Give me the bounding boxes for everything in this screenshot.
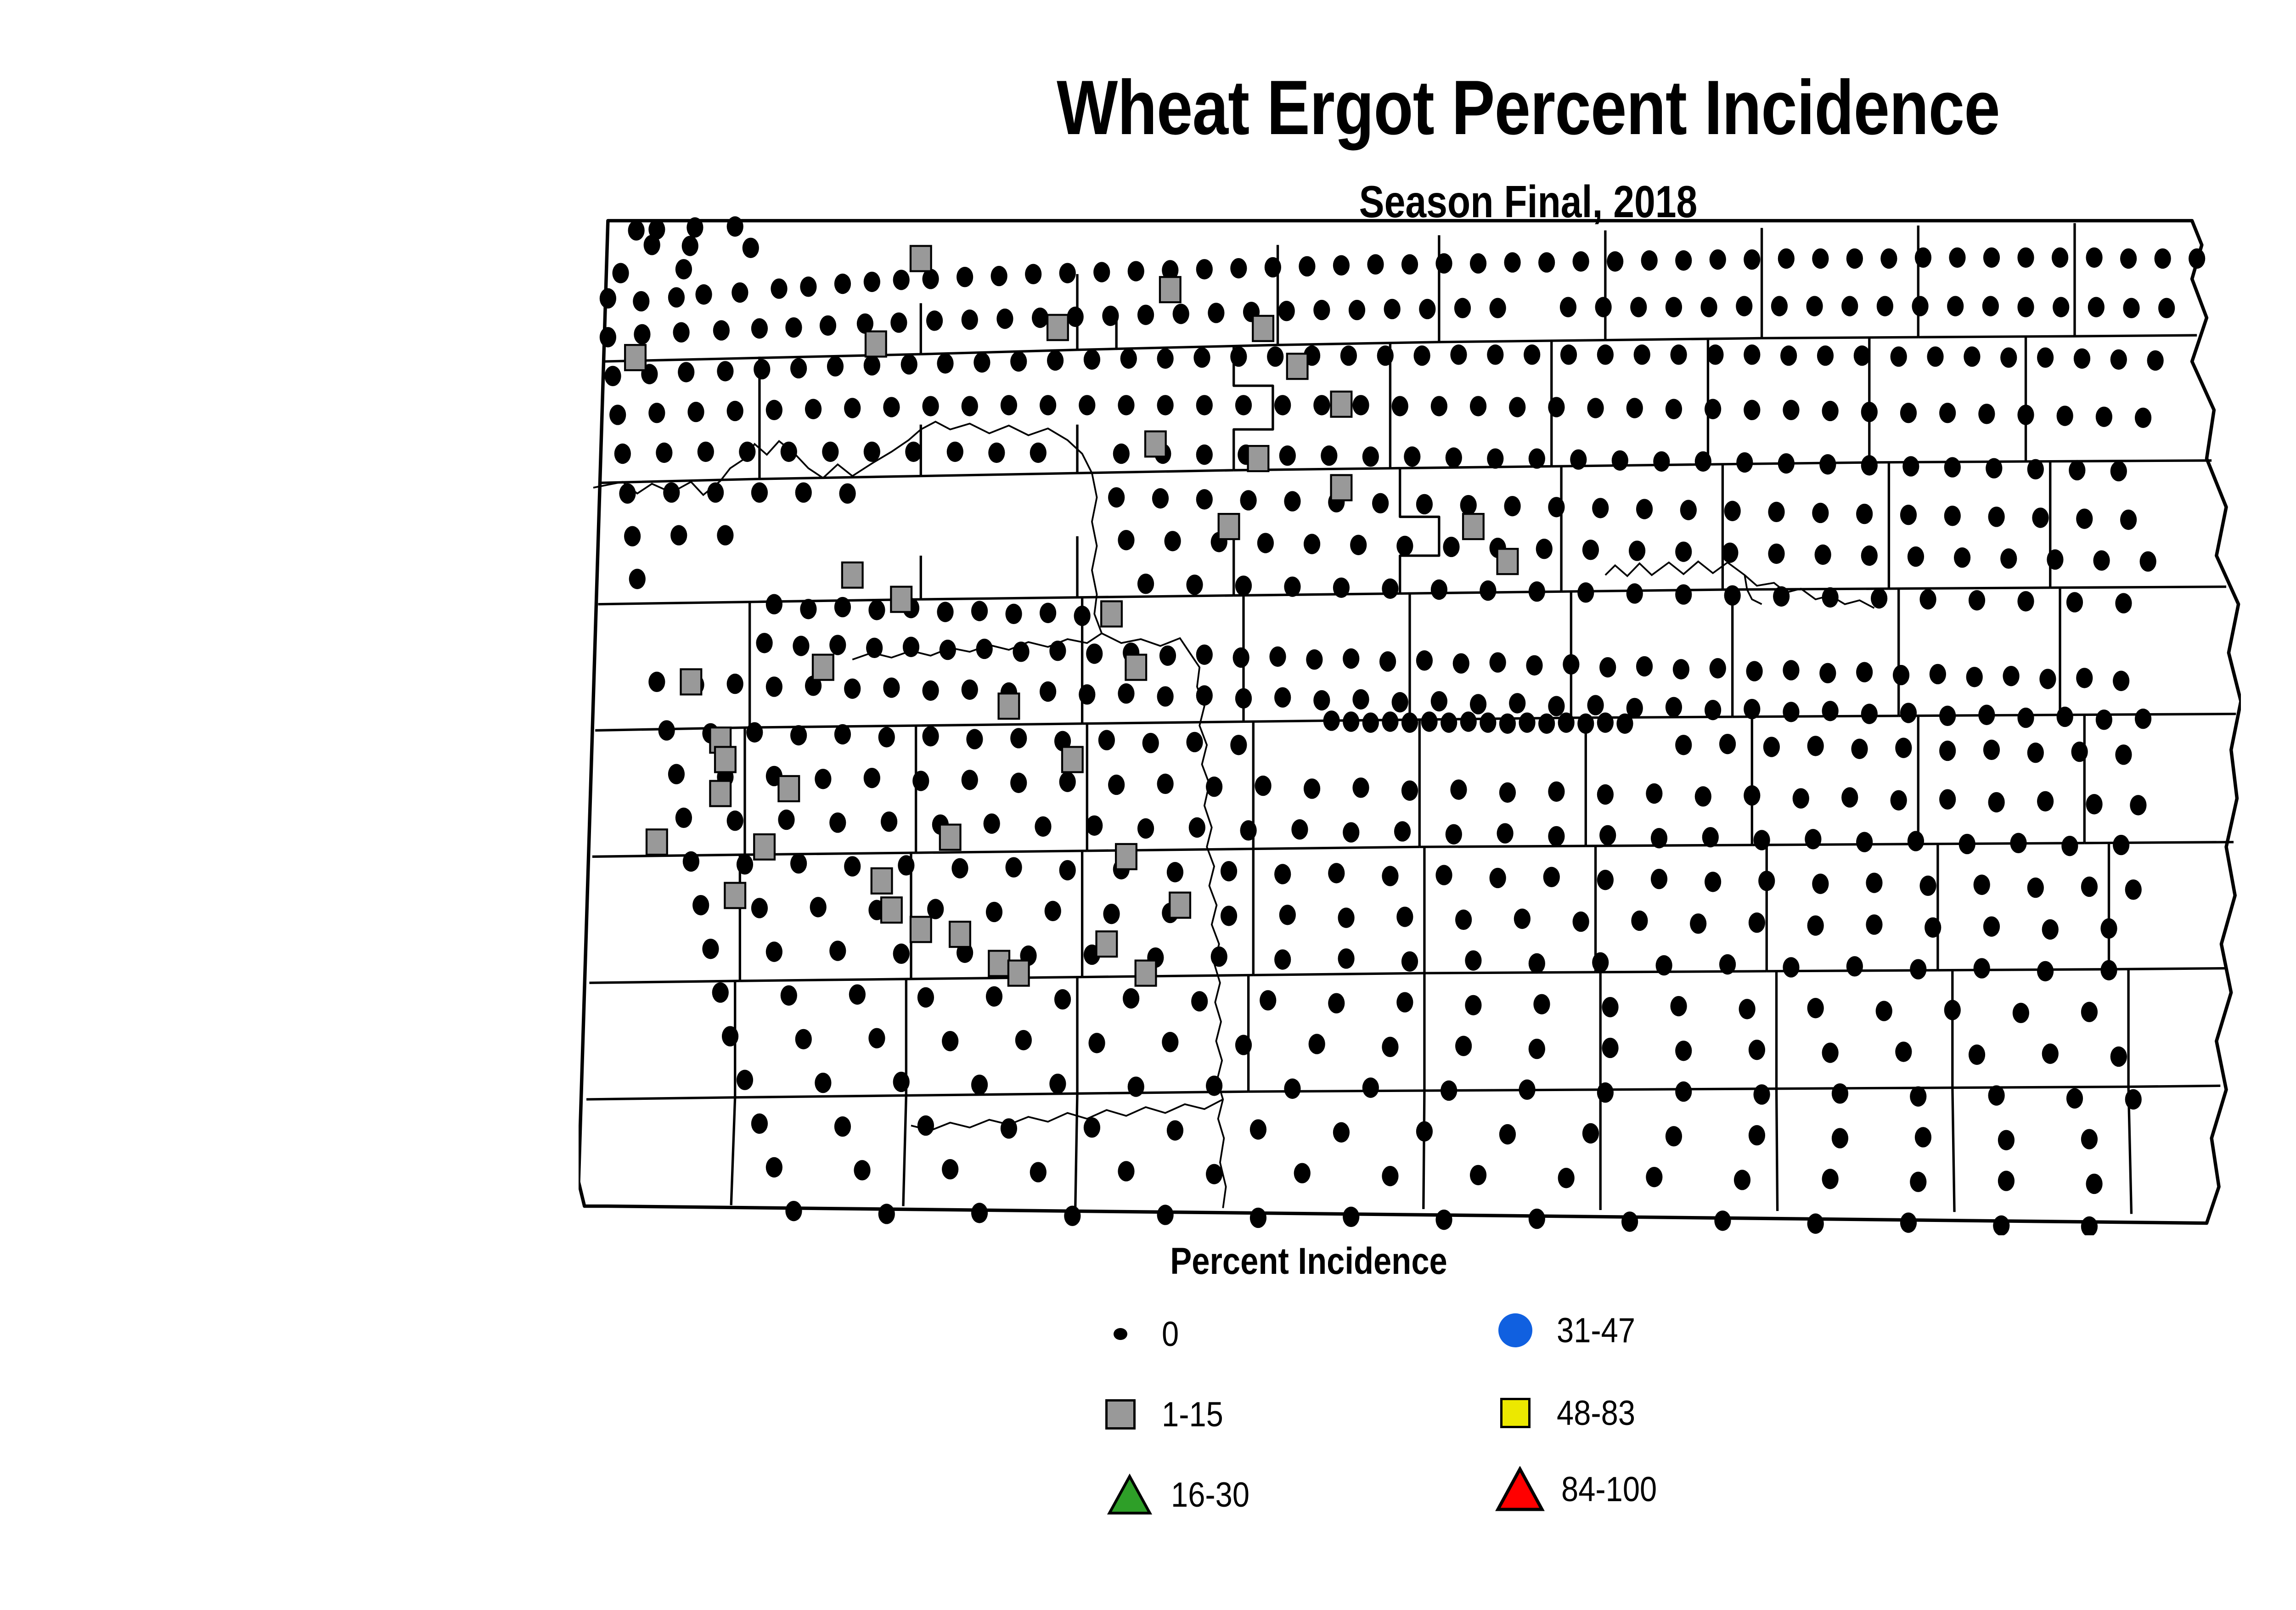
data-point-zero[interactable] xyxy=(1529,581,1545,602)
data-point-zero[interactable] xyxy=(1267,346,1283,366)
data-point-zero[interactable] xyxy=(2093,550,2110,570)
data-point-zero[interactable] xyxy=(739,442,755,462)
data-point-zero[interactable] xyxy=(1871,588,1887,608)
data-point-zero[interactable] xyxy=(1607,251,1623,271)
data-point-zero[interactable] xyxy=(1597,870,1614,890)
data-point-zero[interactable] xyxy=(1235,688,1252,709)
data-point-zero[interactable] xyxy=(751,898,768,918)
data-point-zero[interactable] xyxy=(1866,914,1882,934)
data-point-zero[interactable] xyxy=(1321,445,1337,466)
data-point-zero[interactable] xyxy=(1086,643,1103,664)
data-point-zero[interactable] xyxy=(2113,835,2129,855)
data-point-zero[interactable] xyxy=(1670,344,1687,365)
data-point-1-15[interactable] xyxy=(1136,961,1156,986)
data-point-zero[interactable] xyxy=(1651,869,1667,889)
data-point-zero[interactable] xyxy=(1910,1086,1926,1106)
data-point-zero[interactable] xyxy=(2071,742,2088,762)
data-point-zero[interactable] xyxy=(1749,912,1765,933)
data-point-zero[interactable] xyxy=(1379,651,1396,671)
data-point-zero[interactable] xyxy=(624,526,641,546)
data-point-zero[interactable] xyxy=(673,322,689,343)
data-point-zero[interactable] xyxy=(785,1201,802,1221)
data-point-zero[interactable] xyxy=(1719,734,1736,754)
data-point-zero[interactable] xyxy=(1915,1127,1931,1147)
data-point-zero[interactable] xyxy=(2096,406,2112,427)
data-point-1-15[interactable] xyxy=(1125,655,1146,680)
data-point-zero[interactable] xyxy=(1362,712,1379,732)
data-point-zero[interactable] xyxy=(1030,443,1047,463)
data-point-zero[interactable] xyxy=(1753,830,1770,850)
data-point-zero[interactable] xyxy=(1250,1208,1266,1228)
legend-item-2[interactable]: 16-30 xyxy=(1102,1469,1260,1520)
data-point-zero[interactable] xyxy=(1666,297,1682,317)
data-point-zero[interactable] xyxy=(1944,1000,1961,1020)
data-point-zero[interactable] xyxy=(1333,578,1350,598)
data-point-zero[interactable] xyxy=(1974,875,1990,895)
data-point-zero[interactable] xyxy=(1460,495,1477,515)
data-point-zero[interactable] xyxy=(1927,346,1943,366)
data-point-zero[interactable] xyxy=(1460,711,1477,732)
data-point-zero[interactable] xyxy=(1221,906,1237,926)
data-point-zero[interactable] xyxy=(1710,658,1726,678)
data-point-zero[interactable] xyxy=(1504,252,1520,272)
data-point-zero[interactable] xyxy=(1384,299,1401,319)
data-point-zero[interactable] xyxy=(1744,344,1760,365)
data-point-zero[interactable] xyxy=(1592,498,1609,518)
data-point-zero[interactable] xyxy=(754,359,770,379)
data-point-zero[interactable] xyxy=(1233,647,1249,668)
data-point-zero[interactable] xyxy=(1734,1170,1750,1190)
data-point-zero[interactable] xyxy=(2115,744,2132,765)
data-point-zero[interactable] xyxy=(962,396,978,416)
data-point-zero[interactable] xyxy=(1895,1041,1912,1062)
data-point-zero[interactable] xyxy=(2057,405,2073,426)
data-point-zero[interactable] xyxy=(1675,541,1692,562)
data-point-zero[interactable] xyxy=(1744,400,1760,420)
data-point-zero[interactable] xyxy=(1352,777,1369,798)
data-point-zero[interactable] xyxy=(1450,779,1467,799)
data-point-zero[interactable] xyxy=(790,358,807,378)
data-point-zero[interactable] xyxy=(1230,735,1247,755)
data-point-1-15[interactable] xyxy=(1145,431,1166,456)
data-point-zero[interactable] xyxy=(675,259,692,279)
data-point-zero[interactable] xyxy=(962,310,978,330)
data-point-zero[interactable] xyxy=(1396,992,1413,1012)
data-point-zero[interactable] xyxy=(1103,904,1120,924)
data-point-zero[interactable] xyxy=(1294,1163,1311,1183)
data-point-1-15[interactable] xyxy=(778,776,799,801)
data-point-1-15[interactable] xyxy=(1331,475,1352,501)
data-point-zero[interactable] xyxy=(1230,258,1247,278)
data-point-zero[interactable] xyxy=(1930,664,1946,684)
data-point-zero[interactable] xyxy=(1196,489,1213,509)
data-point-zero[interactable] xyxy=(1753,1084,1770,1104)
data-point-zero[interactable] xyxy=(2140,551,2156,571)
data-point-zero[interactable] xyxy=(1497,823,1514,843)
data-point-zero[interactable] xyxy=(1983,916,2000,936)
data-point-zero[interactable] xyxy=(1142,733,1159,753)
data-point-1-15[interactable] xyxy=(1008,961,1029,986)
data-point-zero[interactable] xyxy=(1343,822,1359,842)
data-point-zero[interactable] xyxy=(682,236,698,256)
data-point-zero[interactable] xyxy=(893,1072,910,1092)
data-point-zero[interactable] xyxy=(971,601,988,621)
data-point-zero[interactable] xyxy=(1401,254,1418,275)
data-point-zero[interactable] xyxy=(2037,791,2054,811)
data-point-zero[interactable] xyxy=(1186,732,1203,752)
data-point-zero[interactable] xyxy=(1822,1042,1839,1063)
data-point-zero[interactable] xyxy=(781,442,797,462)
data-point-1-15[interactable] xyxy=(1047,315,1068,340)
data-point-1-15[interactable] xyxy=(754,834,775,860)
data-point-zero[interactable] xyxy=(727,401,743,421)
data-point-zero[interactable] xyxy=(1064,1206,1080,1226)
data-point-zero[interactable] xyxy=(1118,395,1134,415)
data-point-zero[interactable] xyxy=(2076,508,2093,529)
data-point-zero[interactable] xyxy=(1646,783,1662,804)
data-point-zero[interactable] xyxy=(1529,953,1545,974)
data-point-zero[interactable] xyxy=(2027,459,2044,479)
legend-item-0[interactable]: 0 xyxy=(1093,1309,1181,1359)
data-point-zero[interactable] xyxy=(1526,655,1542,676)
data-point-1-15[interactable] xyxy=(813,655,833,680)
data-point-zero[interactable] xyxy=(922,681,939,701)
data-point-zero[interactable] xyxy=(795,1029,812,1049)
data-point-zero[interactable] xyxy=(917,987,934,1008)
data-point-zero[interactable] xyxy=(1819,454,1836,474)
data-point-zero[interactable] xyxy=(1908,546,1924,567)
data-point-1-15[interactable] xyxy=(1331,392,1352,417)
data-point-zero[interactable] xyxy=(2027,743,2044,763)
data-point-zero[interactable] xyxy=(1866,873,1882,893)
data-point-zero[interactable] xyxy=(1783,702,1799,722)
data-point-zero[interactable] xyxy=(1128,1076,1144,1097)
data-point-zero[interactable] xyxy=(1978,404,1995,424)
data-point-zero[interactable] xyxy=(1284,491,1300,511)
data-point-zero[interactable] xyxy=(1822,587,1839,608)
data-point-zero[interactable] xyxy=(1235,1035,1252,1055)
data-point-zero[interactable] xyxy=(1274,687,1291,707)
data-point-zero[interactable] xyxy=(1974,958,1990,978)
data-point-zero[interactable] xyxy=(1778,453,1795,473)
data-point-zero[interactable] xyxy=(2042,1043,2059,1064)
data-point-zero[interactable] xyxy=(1597,712,1614,732)
data-point-zero[interactable] xyxy=(1306,649,1322,670)
legend-item-5[interactable]: 84-100 xyxy=(1492,1464,1670,1514)
data-point-zero[interactable] xyxy=(707,482,724,502)
data-point-zero[interactable] xyxy=(1157,1205,1174,1225)
data-point-zero[interactable] xyxy=(1250,1119,1266,1139)
data-point-zero[interactable] xyxy=(1806,296,1823,316)
data-point-zero[interactable] xyxy=(1724,585,1741,605)
data-point-zero[interactable] xyxy=(1499,782,1516,803)
data-point-zero[interactable] xyxy=(2113,671,2129,691)
data-point-zero[interactable] xyxy=(766,400,782,420)
data-point-zero[interactable] xyxy=(1167,862,1183,882)
data-point-zero[interactable] xyxy=(1919,876,1936,896)
data-point-zero[interactable] xyxy=(1206,777,1222,797)
data-point-zero[interactable] xyxy=(1377,345,1394,366)
data-point-zero[interactable] xyxy=(1597,784,1614,805)
data-point-zero[interactable] xyxy=(1441,712,1457,732)
data-point-zero[interactable] xyxy=(644,235,660,255)
data-point-zero[interactable] xyxy=(1736,296,1752,316)
data-point-zero[interactable] xyxy=(834,1116,851,1137)
data-point-zero[interactable] xyxy=(1274,949,1291,969)
data-point-zero[interactable] xyxy=(2110,349,2127,370)
data-point-zero[interactable] xyxy=(727,216,743,236)
data-point-zero[interactable] xyxy=(790,853,807,873)
north-dakota-map[interactable] xyxy=(579,216,2241,1235)
data-point-zero[interactable] xyxy=(1915,248,1931,268)
data-point-zero[interactable] xyxy=(1470,1165,1486,1185)
data-point-zero[interactable] xyxy=(1196,395,1213,415)
data-point-zero[interactable] xyxy=(619,483,636,503)
data-point-zero[interactable] xyxy=(1186,574,1203,595)
data-point-zero[interactable] xyxy=(829,812,846,833)
data-point-zero[interactable] xyxy=(2123,298,2139,318)
data-point-1-15[interactable] xyxy=(647,829,667,855)
data-point-zero[interactable] xyxy=(2017,708,2034,728)
data-point-zero[interactable] xyxy=(962,680,978,700)
data-point-zero[interactable] xyxy=(1010,773,1027,793)
data-point-zero[interactable] xyxy=(1592,952,1609,973)
data-point-zero[interactable] xyxy=(822,442,838,462)
data-point-zero[interactable] xyxy=(1964,346,1980,366)
data-point-zero[interactable] xyxy=(1695,786,1711,806)
data-point-zero[interactable] xyxy=(1856,662,1873,682)
data-point-zero[interactable] xyxy=(713,320,730,340)
data-point-zero[interactable] xyxy=(1690,913,1706,934)
data-point-zero[interactable] xyxy=(1343,711,1359,732)
data-point-zero[interactable] xyxy=(1900,505,1917,525)
data-point-zero[interactable] xyxy=(1846,956,1863,976)
data-point-zero[interactable] xyxy=(922,396,939,416)
data-point-zero[interactable] xyxy=(648,403,665,423)
data-point-zero[interactable] xyxy=(2003,666,2019,686)
data-point-zero[interactable] xyxy=(1587,398,1604,418)
data-point-zero[interactable] xyxy=(629,569,646,589)
data-point-zero[interactable] xyxy=(1323,710,1340,731)
data-point-zero[interactable] xyxy=(727,811,743,831)
data-point-zero[interactable] xyxy=(1470,396,1486,416)
data-point-zero[interactable] xyxy=(878,727,895,747)
data-point-zero[interactable] xyxy=(1597,344,1614,365)
data-point-zero[interactable] xyxy=(1005,857,1022,877)
data-point-zero[interactable] xyxy=(1563,654,1579,675)
data-point-zero[interactable] xyxy=(815,769,831,789)
data-point-zero[interactable] xyxy=(1529,1039,1545,1059)
data-point-zero[interactable] xyxy=(1582,1123,1599,1143)
data-point-zero[interactable] xyxy=(1912,296,1928,316)
data-point-zero[interactable] xyxy=(698,442,714,462)
data-point-zero[interactable] xyxy=(1045,901,1061,921)
data-point-zero[interactable] xyxy=(1832,1083,1848,1103)
data-point-zero[interactable] xyxy=(1328,863,1345,883)
data-point-zero[interactable] xyxy=(1088,1033,1105,1053)
data-point-zero[interactable] xyxy=(1807,736,1824,756)
data-point-zero[interactable] xyxy=(1538,714,1555,734)
data-point-zero[interactable] xyxy=(2155,248,2171,269)
data-point-zero[interactable] xyxy=(2081,877,2098,897)
data-point-zero[interactable] xyxy=(996,309,1013,329)
data-point-zero[interactable] xyxy=(1670,996,1687,1016)
data-point-zero[interactable] xyxy=(1636,499,1653,519)
data-point-zero[interactable] xyxy=(751,482,768,502)
data-point-1-15[interactable] xyxy=(881,897,902,923)
data-point-zero[interactable] xyxy=(692,895,709,915)
data-point-zero[interactable] xyxy=(1969,590,1985,610)
data-point-zero[interactable] xyxy=(917,1115,934,1136)
data-point-zero[interactable] xyxy=(2017,591,2034,611)
data-point-zero[interactable] xyxy=(1435,253,1452,273)
data-point-1-15[interactable] xyxy=(1160,277,1181,302)
data-point-1-15[interactable] xyxy=(1097,931,1117,957)
data-point-zero[interactable] xyxy=(737,1070,753,1090)
data-point-zero[interactable] xyxy=(1084,1117,1100,1137)
data-point-zero[interactable] xyxy=(1744,785,1760,805)
data-point-zero[interactable] xyxy=(834,597,851,617)
data-point-zero[interactable] xyxy=(2147,350,2164,371)
data-point-zero[interactable] xyxy=(1877,296,1893,316)
data-point-zero[interactable] xyxy=(912,771,929,791)
data-point-zero[interactable] xyxy=(1998,1130,2015,1150)
data-point-zero[interactable] xyxy=(1616,714,1633,734)
data-point-1-15[interactable] xyxy=(1062,747,1083,772)
data-point-1-15[interactable] xyxy=(911,246,931,271)
data-point-zero[interactable] xyxy=(1343,648,1359,669)
data-point-zero[interactable] xyxy=(1487,448,1503,468)
data-point-zero[interactable] xyxy=(1159,646,1176,666)
data-point-zero[interactable] xyxy=(1047,350,1064,371)
data-point-zero[interactable] xyxy=(778,810,794,830)
data-point-zero[interactable] xyxy=(1230,346,1247,366)
data-point-zero[interactable] xyxy=(1059,263,1076,283)
data-point-zero[interactable] xyxy=(1587,695,1604,715)
data-point-zero[interactable] xyxy=(1372,493,1389,513)
data-point-zero[interactable] xyxy=(1949,248,1965,268)
data-point-zero[interactable] xyxy=(1509,693,1525,713)
data-point-zero[interactable] xyxy=(1719,954,1736,974)
data-point-zero[interactable] xyxy=(1074,606,1091,626)
data-point-zero[interactable] xyxy=(829,940,846,961)
data-point-zero[interactable] xyxy=(1059,860,1076,880)
data-point-zero[interactable] xyxy=(1701,297,1717,317)
data-point-zero[interactable] xyxy=(1621,1211,1638,1232)
data-point-zero[interactable] xyxy=(1382,711,1398,732)
data-point-1-15[interactable] xyxy=(1248,446,1269,471)
data-point-zero[interactable] xyxy=(1705,700,1721,720)
data-point-zero[interactable] xyxy=(1284,576,1300,597)
data-point-zero[interactable] xyxy=(1822,1169,1839,1189)
data-point-1-15[interactable] xyxy=(950,922,970,947)
data-point-zero[interactable] xyxy=(957,267,973,287)
data-point-zero[interactable] xyxy=(1939,403,1956,423)
data-point-zero[interactable] xyxy=(800,276,816,297)
data-point-zero[interactable] xyxy=(2110,461,2127,481)
data-point-zero[interactable] xyxy=(844,856,861,876)
data-point-zero[interactable] xyxy=(1773,586,1790,607)
data-point-1-15[interactable] xyxy=(911,917,931,942)
data-point-zero[interactable] xyxy=(2086,248,2102,268)
data-point-zero[interactable] xyxy=(1279,905,1296,925)
data-point-zero[interactable] xyxy=(971,1203,988,1223)
data-point-zero[interactable] xyxy=(1856,832,1873,852)
data-point-zero[interactable] xyxy=(781,985,797,1006)
data-point-zero[interactable] xyxy=(1900,403,1917,423)
data-point-zero[interactable] xyxy=(1382,1037,1398,1057)
data-point-zero[interactable] xyxy=(1240,490,1257,510)
data-point-zero[interactable] xyxy=(1304,778,1320,799)
data-point-zero[interactable] xyxy=(974,352,990,372)
data-point-zero[interactable] xyxy=(2081,1216,2098,1235)
data-point-1-15[interactable] xyxy=(715,747,736,772)
data-point-zero[interactable] xyxy=(1675,735,1692,755)
data-point-zero[interactable] xyxy=(2052,248,2068,268)
data-point-zero[interactable] xyxy=(1641,250,1658,270)
data-point-zero[interactable] xyxy=(2039,669,2056,689)
data-point-1-15[interactable] xyxy=(999,693,1019,719)
data-point-zero[interactable] xyxy=(2032,507,2048,528)
data-point-zero[interactable] xyxy=(829,635,846,655)
data-point-zero[interactable] xyxy=(1032,308,1048,328)
data-point-zero[interactable] xyxy=(1093,262,1110,282)
data-point-zero[interactable] xyxy=(1783,400,1799,420)
data-point-zero[interactable] xyxy=(1013,642,1029,662)
data-point-zero[interactable] xyxy=(1856,504,1873,524)
data-point-zero[interactable] xyxy=(614,444,631,464)
data-point-zero[interactable] xyxy=(1189,817,1205,838)
data-point-zero[interactable] xyxy=(1983,740,2000,760)
data-point-zero[interactable] xyxy=(727,674,743,694)
data-point-zero[interactable] xyxy=(1470,253,1486,273)
data-point-zero[interactable] xyxy=(1453,653,1469,673)
data-point-zero[interactable] xyxy=(1030,1162,1047,1182)
data-point-zero[interactable] xyxy=(1822,701,1839,721)
data-point-zero[interactable] xyxy=(766,1157,782,1177)
data-point-zero[interactable] xyxy=(668,287,685,307)
data-point-zero[interactable] xyxy=(805,399,822,419)
data-point-zero[interactable] xyxy=(1778,248,1795,269)
data-point-zero[interactable] xyxy=(926,310,943,331)
data-point-zero[interactable] xyxy=(1812,503,1829,523)
data-point-zero[interactable] xyxy=(1675,1041,1692,1061)
data-point-zero[interactable] xyxy=(2120,248,2137,269)
data-point-zero[interactable] xyxy=(1313,690,1330,710)
data-point-zero[interactable] xyxy=(1118,683,1134,704)
data-point-zero[interactable] xyxy=(1548,826,1564,846)
data-point-zero[interactable] xyxy=(1548,696,1564,716)
data-point-zero[interactable] xyxy=(1435,865,1452,885)
data-point-zero[interactable] xyxy=(984,813,1000,833)
data-point-zero[interactable] xyxy=(2100,918,2117,939)
data-point-zero[interactable] xyxy=(785,317,802,338)
data-point-zero[interactable] xyxy=(1221,861,1237,881)
data-point-zero[interactable] xyxy=(1993,1216,2009,1235)
data-point-zero[interactable] xyxy=(947,442,963,462)
data-point-zero[interactable] xyxy=(2115,593,2132,613)
data-point-zero[interactable] xyxy=(1599,657,1616,677)
data-point-zero[interactable] xyxy=(1793,788,1809,808)
data-point-zero[interactable] xyxy=(1582,540,1599,560)
data-point-zero[interactable] xyxy=(868,1028,885,1048)
data-point-zero[interactable] xyxy=(1260,990,1276,1010)
data-point-zero[interactable] xyxy=(2135,408,2151,428)
data-point-zero[interactable] xyxy=(2000,347,2017,367)
data-point-zero[interactable] xyxy=(793,636,809,656)
data-point-zero[interactable] xyxy=(1499,1124,1516,1144)
data-point-zero[interactable] xyxy=(687,402,704,422)
